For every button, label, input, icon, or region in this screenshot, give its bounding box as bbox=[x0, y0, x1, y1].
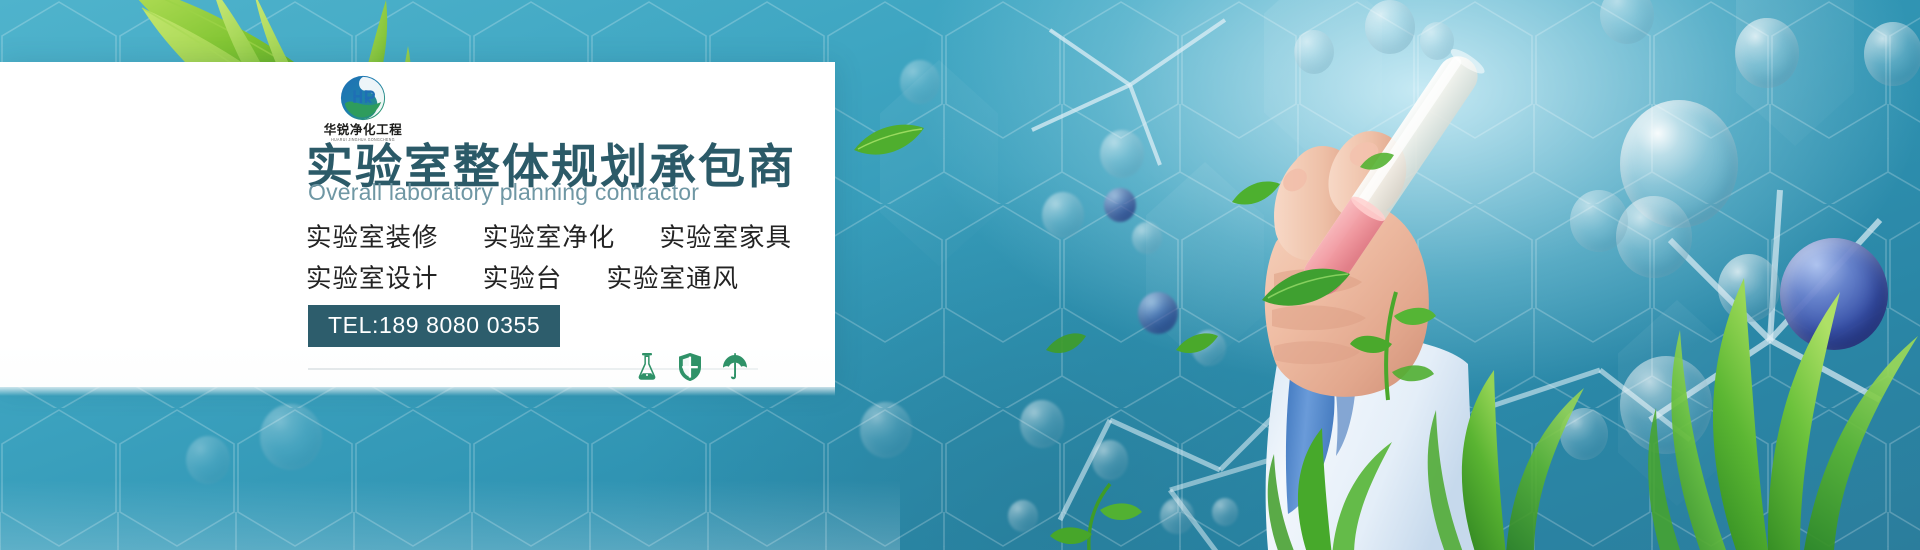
glass-bubble bbox=[1398, 432, 1428, 464]
flask-icon[interactable] bbox=[636, 353, 658, 381]
glass-bubble bbox=[1042, 192, 1084, 238]
floating-leaf bbox=[852, 120, 926, 160]
glass-bubble bbox=[1132, 222, 1162, 254]
molecule-structure bbox=[1120, 430, 1380, 550]
molecule-structure bbox=[1050, 350, 1330, 550]
glass-bubble bbox=[186, 436, 230, 484]
glass-bubble bbox=[900, 60, 940, 104]
service-item: 实验室通风 bbox=[606, 258, 739, 295]
service-item: 实验室家具 bbox=[659, 217, 792, 254]
molecule-structure bbox=[1410, 350, 1710, 550]
laboratory-banner: 华锐净化工程 HUARUI JINGHUA GONGCHENG 实验室整体规划承… bbox=[0, 0, 1920, 550]
molecule-structure bbox=[1580, 150, 1920, 480]
glass-bubble bbox=[1020, 400, 1064, 448]
hexagon-highlight bbox=[1146, 162, 1264, 368]
glass-bubble bbox=[1735, 18, 1799, 88]
service-item: 实验室装修 bbox=[306, 217, 439, 254]
glass-bubble bbox=[1620, 356, 1712, 454]
glass-bubble bbox=[1212, 498, 1238, 526]
feature-icon-row bbox=[636, 353, 748, 381]
glass-bubble bbox=[1092, 440, 1128, 480]
hexagon-highlight bbox=[1264, 0, 1382, 166]
sprout bbox=[1038, 470, 1148, 550]
floating-leaf bbox=[1358, 150, 1396, 172]
molecule-atom-blue bbox=[1104, 188, 1136, 222]
floating-leaf bbox=[1260, 262, 1352, 312]
glass-bubble bbox=[1160, 498, 1194, 534]
hexagon-highlight bbox=[1736, 0, 1854, 146]
grass-clump bbox=[1640, 250, 1920, 550]
telephone-button[interactable]: TEL:189 8080 0355 bbox=[308, 305, 560, 347]
glass-bubble bbox=[1365, 0, 1415, 54]
glass-bubble bbox=[1864, 22, 1920, 86]
service-item: 实验室设计 bbox=[306, 258, 439, 295]
service-item: 实验室净化 bbox=[483, 217, 616, 254]
glass-bubble bbox=[1420, 22, 1454, 60]
hand-holding-test-tube-photo bbox=[1150, 28, 1670, 550]
glass-bubble bbox=[1192, 330, 1226, 366]
hr-monogram-circle-logo bbox=[339, 74, 387, 122]
glass-bubble bbox=[1100, 130, 1144, 178]
glass-bubble bbox=[1294, 30, 1334, 74]
glass-bubble bbox=[860, 402, 912, 458]
glass-bubble bbox=[1718, 254, 1780, 322]
molecule-atom-blue bbox=[1138, 292, 1178, 334]
bottom-veil bbox=[0, 480, 900, 550]
service-list-row-1: 实验室装修 实验室净化 实验室家具 bbox=[306, 217, 792, 254]
glass-bubble bbox=[1616, 196, 1692, 278]
grass-clump bbox=[1406, 330, 1626, 550]
glass-bubble bbox=[1008, 500, 1038, 532]
umbrella-icon[interactable] bbox=[722, 353, 748, 381]
molecule-atom-blue bbox=[1780, 238, 1888, 350]
glass-bubble bbox=[1600, 0, 1654, 44]
service-list-row-2: 实验室设计 实验台 实验室通风 bbox=[306, 258, 739, 295]
glass-bubble bbox=[1560, 408, 1608, 460]
glass-bubble bbox=[1322, 472, 1356, 508]
glass-bubble bbox=[1570, 190, 1628, 252]
glass-bubble bbox=[1620, 100, 1738, 228]
sprout bbox=[1348, 270, 1438, 400]
service-item: 实验台 bbox=[483, 258, 563, 295]
hexagon-highlight bbox=[1618, 300, 1736, 506]
grass-clump bbox=[1252, 396, 1422, 550]
floating-leaf bbox=[1044, 330, 1088, 356]
hexagon-highlight bbox=[880, 60, 998, 266]
glass-bubble bbox=[260, 404, 322, 470]
page-subtitle: Overall laboratory planning contractor bbox=[308, 179, 699, 206]
floating-leaf bbox=[1230, 178, 1282, 208]
content-card: 华锐净化工程 HUARUI JINGHUA GONGCHENG 实验室整体规划承… bbox=[0, 62, 835, 387]
floating-leaf bbox=[1174, 330, 1220, 356]
shield-icon[interactable] bbox=[679, 353, 701, 381]
molecule-structure bbox=[1010, 0, 1310, 190]
